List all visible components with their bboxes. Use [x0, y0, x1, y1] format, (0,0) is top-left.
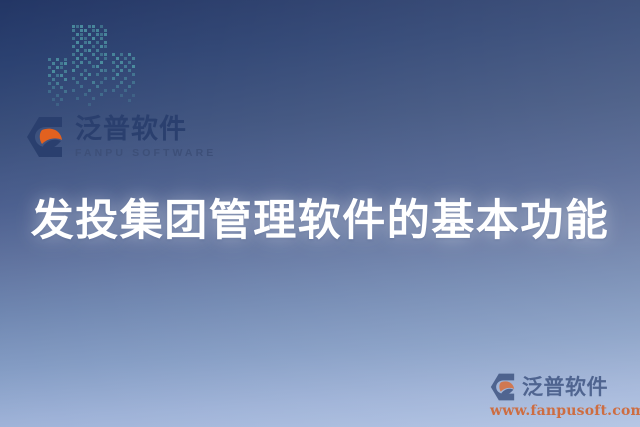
page-title: 发投集团管理软件的基本功能	[0, 186, 640, 248]
brand-wordmark: 泛普软件 FANPU SOFTWARE	[75, 116, 216, 159]
pixel-city-skyline-icon	[44, 20, 140, 110]
watermark: 泛普软件 www.fanpusoft.com	[490, 373, 632, 419]
fanpu-hexagon-logo-icon	[26, 116, 66, 158]
watermark-url: www.fanpusoft.com	[490, 403, 632, 419]
brand-name-en: FANPU SOFTWARE	[75, 148, 216, 159]
watermark-logo: 泛普软件	[490, 373, 632, 401]
fanpu-hexagon-logo-icon	[490, 373, 517, 401]
brand-name-cn: 泛普软件	[75, 116, 216, 143]
promo-banner: 泛普软件 FANPU SOFTWARE 发投集团管理软件的基本功能 泛普软件 w…	[0, 0, 640, 427]
brand-logo: 泛普软件 FANPU SOFTWARE	[26, 116, 216, 159]
watermark-name-cn: 泛普软件	[522, 377, 608, 398]
